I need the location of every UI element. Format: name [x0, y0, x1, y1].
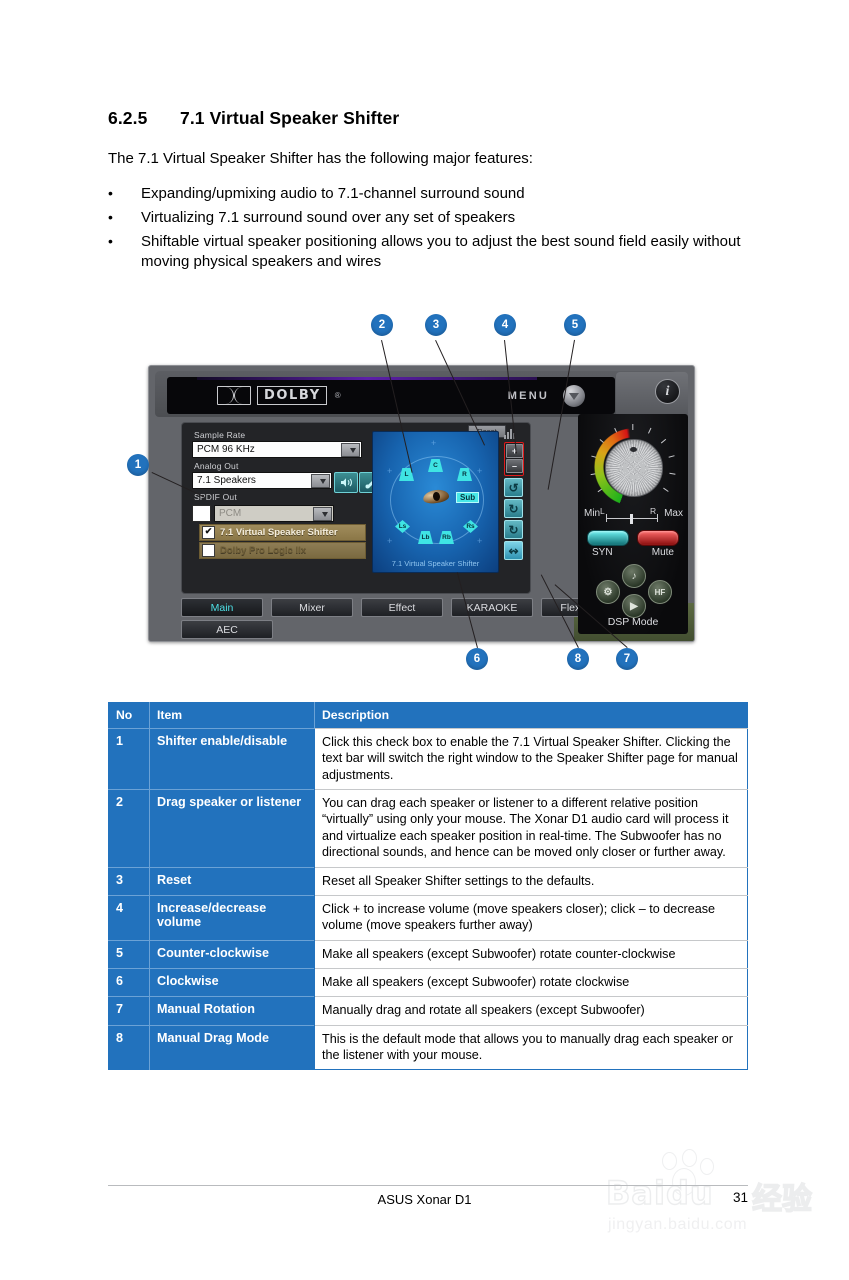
bullet-marker-icon: • — [108, 232, 141, 272]
balance-left-label: L — [600, 506, 605, 516]
sample-rate-value: PCM 96 KHz — [193, 444, 255, 455]
analog-out-value: 7.1 Speakers — [193, 475, 256, 486]
section-title: 7.1 Virtual Speaker Shifter — [180, 108, 399, 128]
page-number: 31 — [733, 1190, 748, 1205]
row-description: This is the default mode that allows you… — [315, 1025, 748, 1070]
row-no: 6 — [109, 968, 150, 996]
crosshair-decor: + — [387, 536, 392, 546]
list-item: • Expanding/upmixing audio to 7.1-channe… — [108, 184, 768, 204]
subwoofer-node[interactable]: Sub — [456, 492, 479, 503]
row-item: Clockwise — [150, 968, 315, 996]
intro-paragraph: The 7.1 Virtual Speaker Shifter has the … — [108, 150, 768, 167]
row-description: Click + to increase volume (move speaker… — [315, 895, 748, 940]
feature-bullet-list: • Expanding/upmixing audio to 7.1-channe… — [108, 184, 768, 276]
table-row: 8 Manual Drag Mode This is the default m… — [109, 1025, 748, 1070]
row-no: 7 — [109, 997, 150, 1025]
tab-mixer[interactable]: Mixer — [271, 598, 353, 617]
row-item: Counter-clockwise — [150, 940, 315, 968]
crosshair-decor: + — [387, 466, 392, 476]
col-header-no: No — [109, 703, 150, 729]
analog-out-select[interactable]: 7.1 Speakers — [192, 472, 332, 489]
table-row: 7 Manual Rotation Manually drag and rota… — [109, 997, 748, 1025]
tab-main[interactable]: Main — [181, 598, 263, 617]
callout-badge-5: 5 — [564, 314, 586, 336]
row-description: You can drag each speaker or listener to… — [315, 790, 748, 867]
balance-left-end — [606, 514, 607, 522]
master-volume-knob-group[interactable] — [594, 428, 672, 506]
watermark-url: jingyan.baidu.com — [608, 1216, 747, 1234]
dsp-game-button[interactable]: ⚙ — [596, 580, 620, 604]
shifter-enable-row[interactable]: ✔ 7.1 Virtual Speaker Shifter — [199, 524, 366, 541]
row-no: 4 — [109, 895, 150, 940]
dolby-double-d-icon — [217, 386, 251, 405]
table-row: 6 Clockwise Make all speakers (except Su… — [109, 968, 748, 996]
row-no: 1 — [109, 729, 150, 790]
bullet-text: Expanding/upmixing audio to 7.1-channel … — [141, 184, 768, 204]
chevron-down-icon — [569, 393, 579, 400]
col-header-description: Description — [315, 703, 748, 729]
crosshair-decor: + — [431, 438, 436, 448]
sample-rate-group: Sample Rate PCM 96 KHz — [192, 430, 362, 458]
dolby-prologic-row[interactable]: Dolby Pro Logic IIx — [199, 542, 366, 559]
row-item: Shifter enable/disable — [150, 729, 315, 790]
chevron-down-icon[interactable] — [313, 507, 332, 521]
counter-clockwise-button[interactable]: ↺ — [504, 478, 523, 497]
spdif-enable-checkbox[interactable] — [192, 505, 211, 522]
tab-aec[interactable]: AEC — [181, 620, 273, 639]
spdif-format-select[interactable]: PCM — [214, 505, 334, 522]
row-no: 3 — [109, 867, 150, 895]
row-item: Reset — [150, 867, 315, 895]
master-control-panel: Min Max L R SYN Mute ♪ ⚙ HF ▶ DSP Mode — [578, 414, 688, 634]
callout-badge-7: 7 — [616, 648, 638, 670]
bullet-text: Virtualizing 7.1 surround sound over any… — [141, 208, 768, 228]
manual-drag-mode-button[interactable]: ↭ — [504, 541, 523, 560]
row-description: Manually drag and rotate all speakers (e… — [315, 997, 748, 1025]
table-row: 5 Counter-clockwise Make all speakers (e… — [109, 940, 748, 968]
decrease-volume-button[interactable]: – — [506, 459, 523, 473]
chevron-down-icon[interactable] — [341, 443, 360, 457]
spdif-out-value: PCM — [215, 508, 241, 519]
registered-mark-icon: ® — [335, 391, 341, 400]
row-item: Manual Rotation — [150, 997, 315, 1025]
page-title: 6.2.57.1 Virtual Speaker Shifter — [108, 108, 748, 129]
callout-badge-3: 3 — [425, 314, 447, 336]
table-header-row: No Item Description — [109, 703, 748, 729]
dsp-mode-group: ♪ ⚙ HF ▶ DSP Mode — [590, 564, 676, 616]
sample-rate-select[interactable]: PCM 96 KHz — [192, 441, 362, 458]
shifter-caption: 7.1 Virtual Speaker Shifter — [373, 559, 498, 568]
dolby-wordmark: DOLBY — [257, 386, 327, 405]
manual-page: 6.2.57.1 Virtual Speaker Shifter The 7.1… — [0, 0, 849, 1280]
list-item: • Virtualizing 7.1 surround sound over a… — [108, 208, 768, 228]
row-description: Click this check box to enable the 7.1 V… — [315, 729, 748, 790]
footer-product: ASUS Xonar D1 — [0, 1192, 849, 1207]
info-button[interactable]: i — [655, 379, 680, 404]
balance-right-end — [657, 514, 658, 522]
legend-table: No Item Description 1 Shifter enable/dis… — [108, 702, 748, 1070]
mute-label: Mute — [652, 547, 674, 558]
max-label: Max — [664, 508, 683, 519]
volume-knob[interactable] — [605, 439, 663, 497]
section-number: 6.2.5 — [108, 108, 180, 129]
paw-toe-icon — [682, 1149, 697, 1167]
manual-rotation-button[interactable]: ↻ — [504, 520, 523, 539]
window-header: DOLBY ® MENU — [155, 371, 688, 417]
row-no: 8 — [109, 1025, 150, 1070]
tab-bar-row2: AEC — [181, 620, 273, 639]
row-description: Make all speakers (except Subwoofer) rot… — [315, 968, 748, 996]
list-item: • Shiftable virtual speaker positioning … — [108, 232, 768, 272]
speaker-shifter-display[interactable]: + + + + + L C R Ls Lb Rb Rs Sub 7.1 Virt… — [372, 431, 499, 573]
speaker-test-button[interactable] — [334, 472, 358, 493]
row-description: Make all speakers (except Subwoofer) rot… — [315, 940, 748, 968]
spdif-out-label: SPDIF Out — [194, 492, 362, 502]
tab-effect[interactable]: Effect — [361, 598, 443, 617]
dsp-music-button[interactable]: ♪ — [622, 564, 646, 588]
row-item: Drag speaker or listener — [150, 790, 315, 867]
row-item: Manual Drag Mode — [150, 1025, 315, 1070]
mute-toggle-button[interactable] — [637, 530, 679, 546]
tab-karaoke[interactable]: KARAOKE — [451, 598, 533, 617]
callout-badge-8: 8 — [567, 648, 589, 670]
bullet-marker-icon: • — [108, 208, 141, 228]
footer-divider — [108, 1185, 748, 1186]
menu-label: MENU — [508, 390, 549, 402]
clockwise-button[interactable]: ↻ — [504, 499, 523, 518]
shifter-enable-label: 7.1 Virtual Speaker Shifter — [220, 527, 338, 538]
balance-thumb[interactable] — [630, 514, 633, 524]
analog-out-label: Analog Out — [194, 461, 362, 471]
callout-badge-2: 2 — [371, 314, 393, 336]
paw-toe-icon — [700, 1158, 714, 1175]
dsp-hifi-button[interactable]: HF — [648, 580, 672, 604]
col-header-item: Item — [150, 703, 315, 729]
callout-badge-6: 6 — [466, 648, 488, 670]
chevron-down-icon[interactable] — [311, 474, 330, 488]
row-description: Reset all Speaker Shifter settings to th… — [315, 867, 748, 895]
syn-label: SYN — [592, 547, 613, 558]
min-label: Min — [584, 508, 600, 519]
crosshair-decor: + — [477, 466, 482, 476]
table-row: 2 Drag speaker or listener You can drag … — [109, 790, 748, 867]
dolby-prologic-checkbox[interactable] — [202, 544, 215, 557]
dolby-prologic-label: Dolby Pro Logic IIx — [220, 545, 306, 556]
dsp-movie-button[interactable]: ▶ — [622, 594, 646, 618]
row-no: 2 — [109, 790, 150, 867]
bullet-marker-icon: • — [108, 184, 141, 204]
sample-rate-label: Sample Rate — [194, 430, 362, 440]
purple-accent-strip — [197, 377, 537, 380]
table-row: 3 Reset Reset all Speaker Shifter settin… — [109, 867, 748, 895]
dolby-logo: DOLBY ® — [217, 386, 341, 405]
speaker-icon — [340, 477, 353, 488]
table-row: 4 Increase/decrease volume Click + to in… — [109, 895, 748, 940]
row-item: Increase/decrease volume — [150, 895, 315, 940]
balance-slider[interactable] — [606, 511, 658, 525]
syn-toggle-button[interactable] — [587, 530, 629, 546]
xonar-audio-center-window[interactable]: DOLBY ® MENU i Reset Sample Rate PCM 96 … — [148, 365, 695, 642]
paw-toe-icon — [662, 1152, 677, 1170]
shifter-enable-checkbox[interactable]: ✔ — [202, 526, 215, 539]
callout-badge-1: 1 — [127, 454, 149, 476]
callout-badge-4: 4 — [494, 314, 516, 336]
table-row: 1 Shifter enable/disable Click this chec… — [109, 729, 748, 790]
crosshair-decor: + — [477, 536, 482, 546]
bullet-text: Shiftable virtual speaker positioning al… — [141, 232, 768, 272]
row-no: 5 — [109, 940, 150, 968]
main-settings-panel: Reset Sample Rate PCM 96 KHz Analog Out … — [181, 422, 531, 594]
spdif-out-group: SPDIF Out — [192, 492, 362, 503]
